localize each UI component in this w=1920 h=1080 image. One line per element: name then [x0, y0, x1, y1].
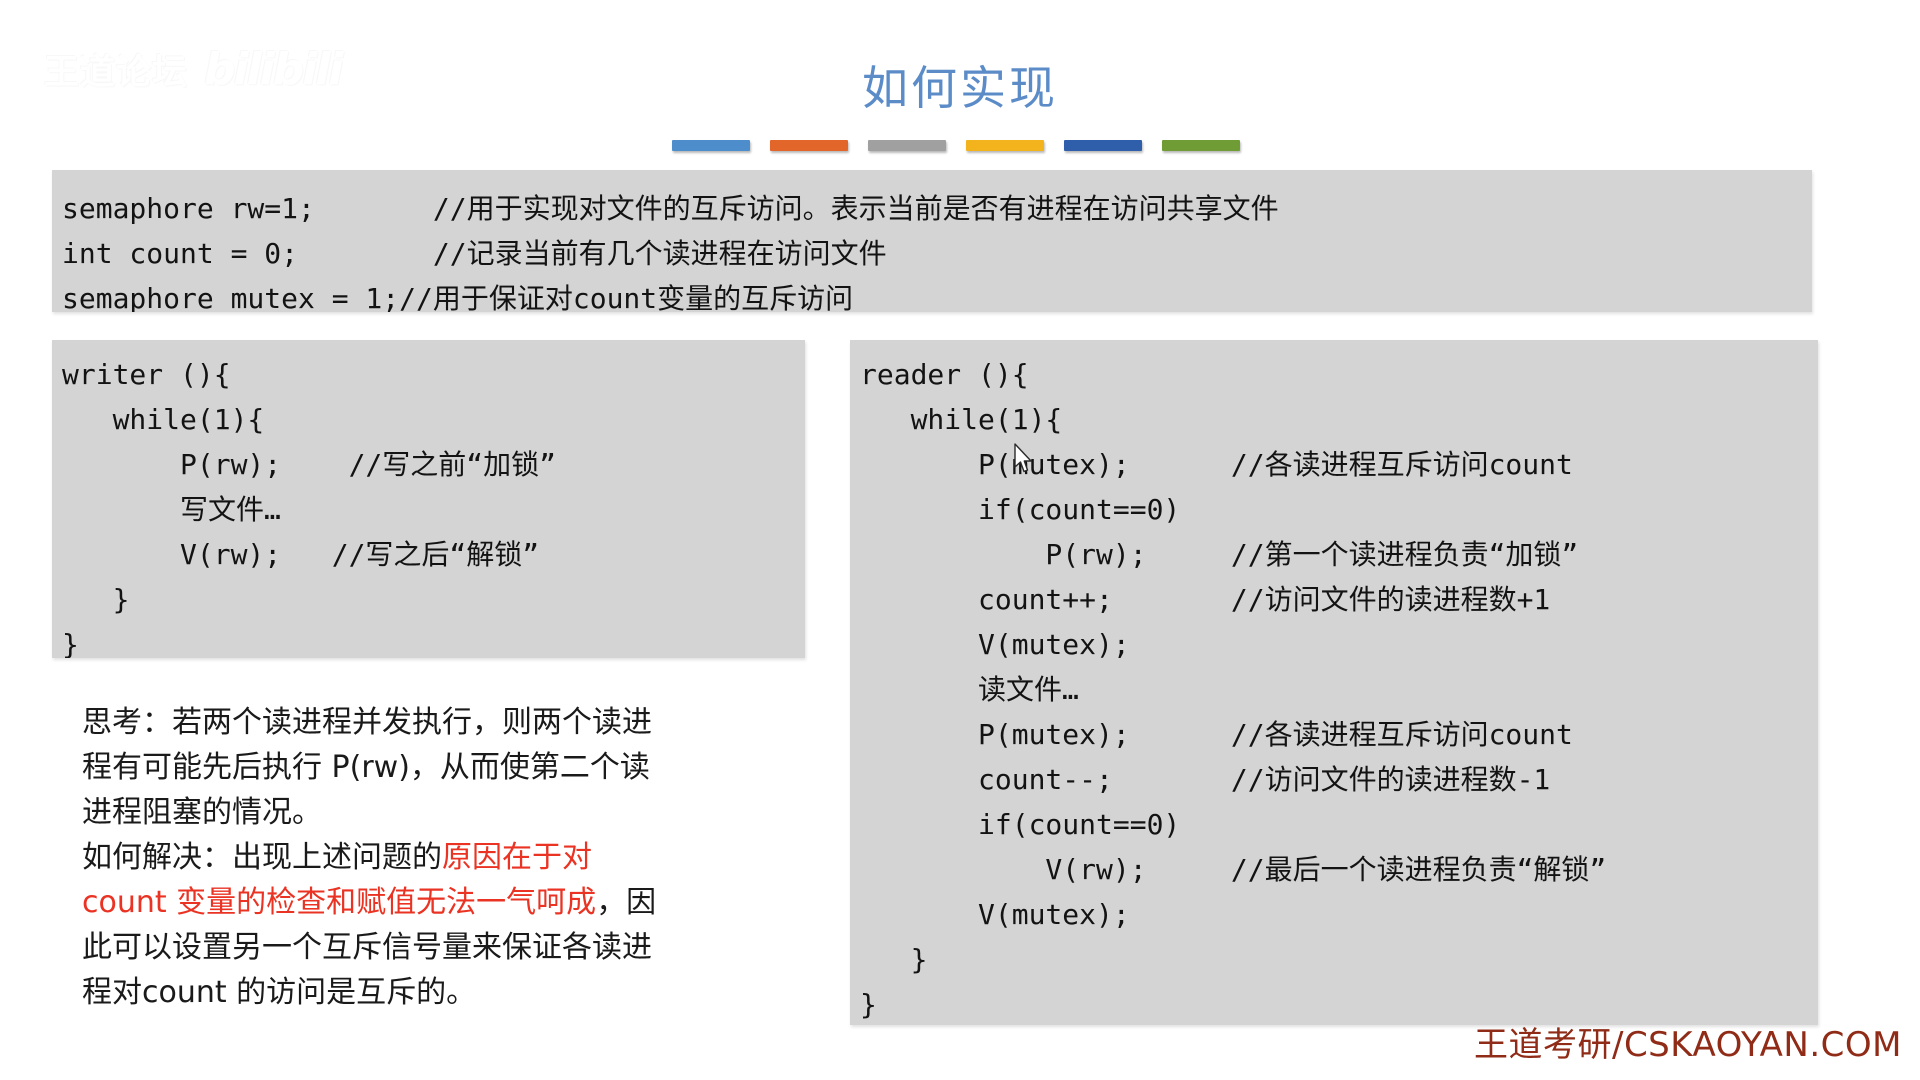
code-line: count++; //访问文件的读进程数+1 — [860, 577, 1818, 622]
code-line: P(mutex); //各读进程互斥访问count — [860, 712, 1818, 757]
code-line: P(rw); //第一个读进程负责“加锁” — [860, 532, 1818, 577]
code-line: P(mutex); //各读进程互斥访问count — [860, 442, 1818, 487]
explanation-line-5-suffix: ，因 — [596, 885, 656, 920]
explanation-line-5: count 变量的检查和赋值无法一气呵成，因 — [82, 880, 802, 925]
code-line: if(count==0) — [860, 802, 1818, 847]
code-line: } — [860, 937, 1818, 982]
code-line: } — [62, 577, 805, 622]
code-line: semaphore rw=1; //用于实现对文件的互斥访问。表示当前是否有进程… — [62, 186, 1812, 231]
page-title: 如何实现 — [0, 52, 1920, 118]
code-line: int count = 0; //记录当前有几个读进程在访问文件 — [62, 231, 1812, 276]
accent-bar-group — [672, 140, 1240, 151]
code-line: if(count==0) — [860, 487, 1818, 532]
explanation-line-6: 此可以设置另一个互斥信号量来保证各读进 — [82, 925, 802, 970]
explanation-line-2: 程有可能先后执行 P(rw)，从而使第二个读 — [82, 745, 802, 790]
code-line: 读文件… — [860, 667, 1818, 712]
accent-bar-gray — [868, 140, 946, 151]
accent-bar-darkblue — [1064, 140, 1142, 151]
explanation-line-4-highlight: 原因在于对 — [442, 840, 592, 875]
explanation-line-1: 思考：若两个读进程并发执行，则两个读进 — [82, 700, 802, 745]
code-line: writer (){ — [62, 352, 805, 397]
explanation-line-5-highlight: count 变量的检查和赋值无法一气呵成 — [82, 885, 596, 920]
explanation-line-4: 如何解决：出现上述问题的原因在于对 — [82, 835, 802, 880]
code-line: reader (){ — [860, 352, 1818, 397]
code-line: } — [62, 622, 805, 658]
code-line: V(mutex); — [860, 622, 1818, 667]
code-line: V(rw); //写之后“解锁” — [62, 532, 805, 577]
code-line: while(1){ — [860, 397, 1818, 442]
code-line: 写文件… — [62, 487, 805, 532]
code-line: V(mutex); — [860, 892, 1818, 937]
explanation-line-3: 进程阻塞的情况。 — [82, 790, 802, 835]
code-block-declarations: semaphore rw=1; //用于实现对文件的互斥访问。表示当前是否有进程… — [52, 170, 1812, 312]
code-block-writer: writer (){ while(1){ P(rw); //写之前“加锁” 写文… — [52, 340, 805, 658]
code-line: P(rw); //写之前“加锁” — [62, 442, 805, 487]
explanation-line-4-prefix: 如何解决：出现上述问题的 — [82, 840, 442, 875]
slide-canvas: 王道论坛 bilibili 如何实现 semaphore rw=1; //用于实… — [0, 0, 1920, 1080]
footer-branding: 王道考研/CSKAOYAN.COM — [1474, 1017, 1902, 1066]
accent-bar-blue — [672, 140, 750, 151]
code-line: while(1){ — [62, 397, 805, 442]
explanation-line-7: 程对count 的访问是互斥的。 — [82, 970, 802, 1015]
code-line: count--; //访问文件的读进程数-1 — [860, 757, 1818, 802]
code-line: V(rw); //最后一个读进程负责“解锁” — [860, 847, 1818, 892]
code-line: semaphore mutex = 1;//用于保证对count变量的互斥访问 — [62, 276, 1812, 312]
accent-bar-yellow — [966, 140, 1044, 151]
code-block-reader: reader (){ while(1){ P(mutex); //各读进程互斥访… — [850, 340, 1818, 1025]
explanation-text: 思考：若两个读进程并发执行，则两个读进 程有可能先后执行 P(rw)，从而使第二… — [82, 700, 802, 1015]
accent-bar-green — [1162, 140, 1240, 151]
accent-bar-orange — [770, 140, 848, 151]
